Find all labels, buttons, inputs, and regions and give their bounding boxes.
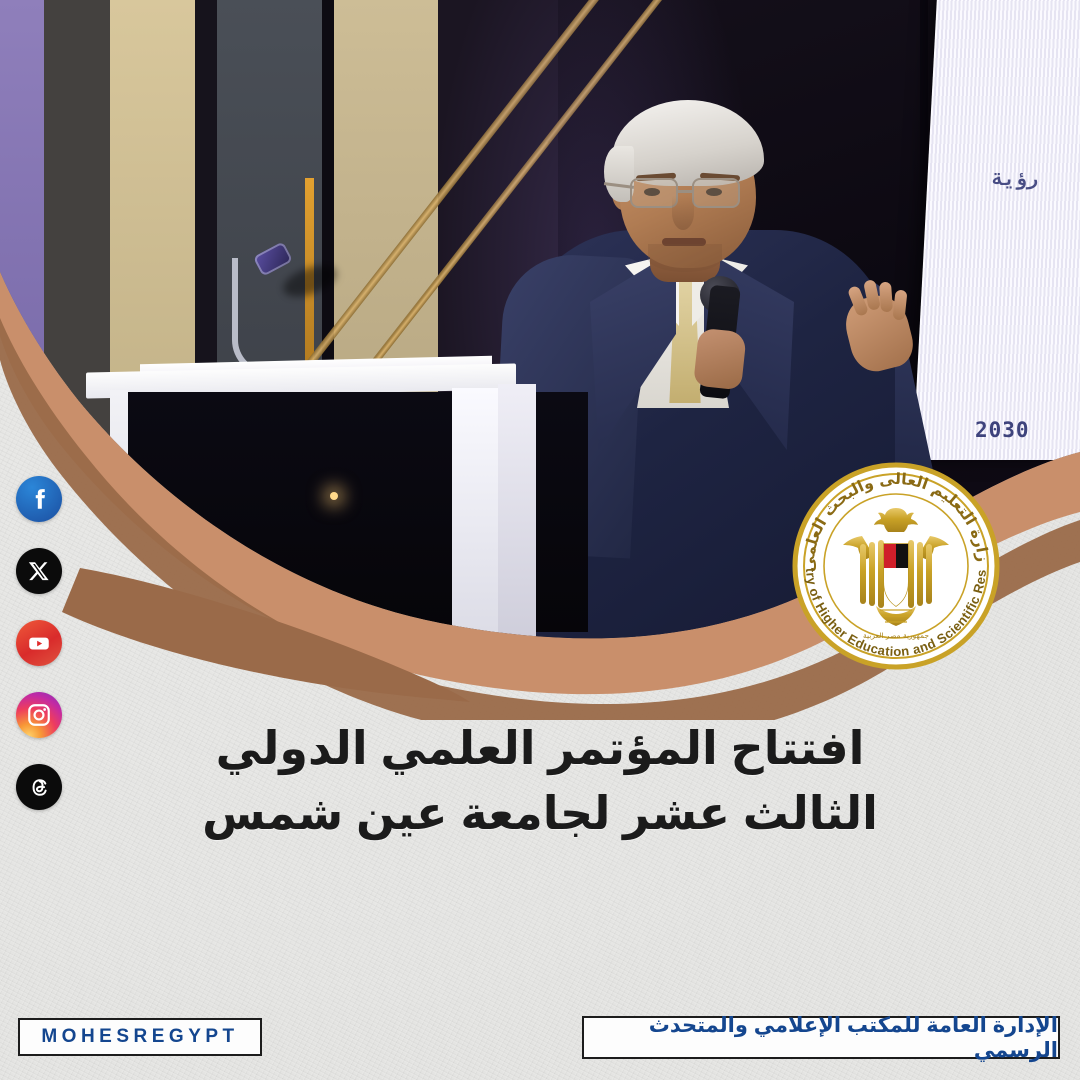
speaker-glasses-lens (692, 178, 740, 208)
social-link-facebook[interactable] (16, 476, 62, 522)
social-links-rail (16, 476, 66, 836)
social-handle-text: MOHESREGYPT (41, 1026, 238, 1048)
speaker-glasses-bridge (678, 190, 692, 193)
social-handle-badge[interactable]: MOHESREGYPT (18, 1018, 262, 1056)
social-media-poster: رؤية 2030 (0, 0, 1080, 1080)
threads-icon (27, 775, 52, 800)
speaker-nose (672, 196, 694, 230)
social-link-x[interactable] (16, 548, 62, 594)
facebook-icon (26, 486, 52, 512)
screen-year-text: 2030 (975, 418, 1030, 442)
projection-screen (913, 0, 1080, 460)
podium-light-reflection (330, 492, 338, 500)
gooseneck-mic-stem (232, 258, 268, 376)
backdrop-panel (195, 0, 217, 660)
podium-right-rim (452, 388, 498, 638)
speaker-glasses-lens (630, 178, 678, 208)
emblem-caption: جمهورية مصر العربية (863, 631, 929, 640)
speaker-finger (879, 282, 893, 313)
backdrop-panel (110, 0, 195, 660)
instagram-icon (26, 702, 52, 728)
headline-line-2: الثالث عشر لجامعة عين شمس (60, 781, 1020, 846)
headline-line-1: افتتاح المؤتمر العلمي الدولي (60, 716, 1020, 781)
media-office-badge: الإدارة العامة للمكتب الإعلامي والمتحدث … (582, 1016, 1060, 1059)
podium-left-rim (110, 390, 128, 638)
youtube-icon (26, 630, 52, 656)
media-office-text: الإدارة العامة للمكتب الإعلامي والمتحدث … (584, 1013, 1058, 1063)
x-icon (28, 560, 50, 582)
podium-right-rim (498, 384, 536, 638)
screen-arabic-text: رؤية (992, 168, 1038, 190)
egypt-flag-shield (884, 544, 908, 606)
social-link-threads[interactable] (16, 764, 62, 810)
social-link-youtube[interactable] (16, 620, 62, 666)
ministry-logo: وزارة التعليم العالى والبحث العلمى Minis… (790, 460, 1002, 672)
page-title: افتتاح المؤتمر العلمي الدولي الثالث عشر … (60, 716, 1020, 847)
speaker-hand-holding-mic (693, 328, 747, 391)
social-link-instagram[interactable] (16, 692, 62, 738)
speaker-chin (648, 244, 722, 272)
